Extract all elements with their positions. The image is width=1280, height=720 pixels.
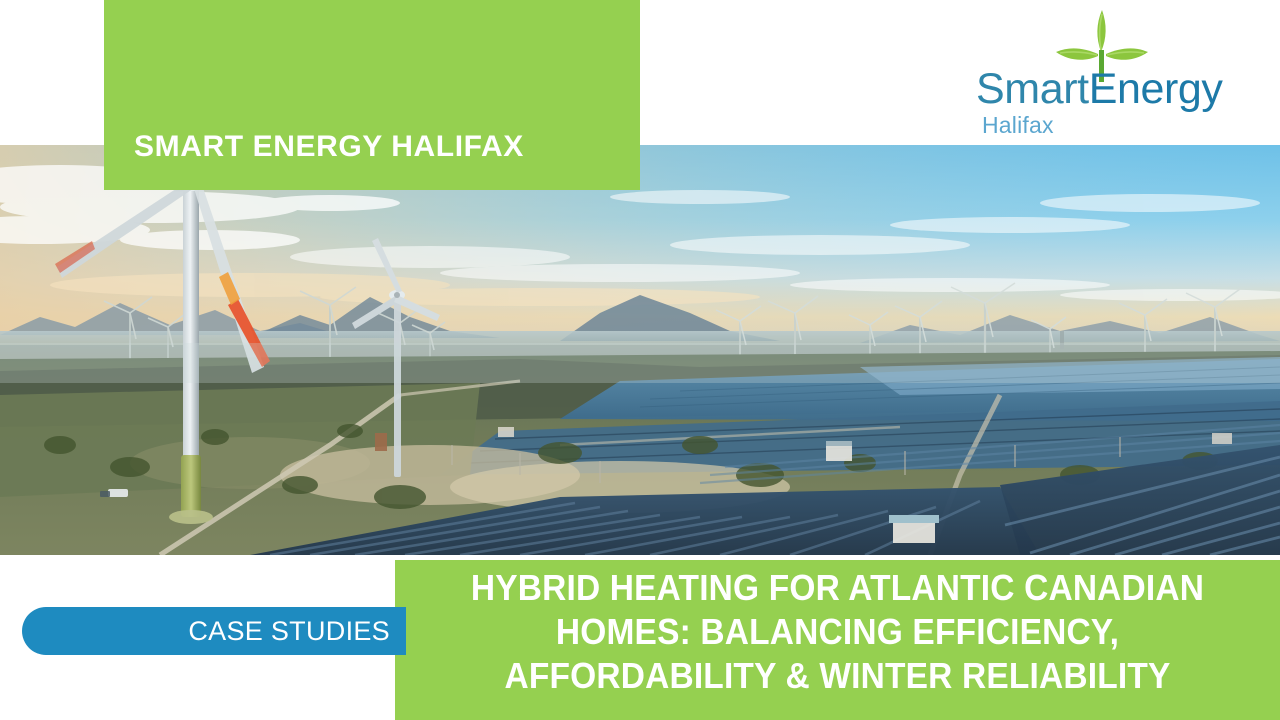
brand-logo[interactable]: SmartEnergy Halifax: [976, 8, 1244, 140]
presentation-title: HYBRID HEATING FOR ATLANTIC CANADIAN HOM…: [437, 566, 1238, 698]
logo-subtitle: Halifax: [982, 112, 1054, 138]
header-banner-title: SMART ENERGY HALIFAX: [134, 132, 524, 162]
category-badge: CASE STUDIES: [22, 607, 406, 655]
category-badge-label: CASE STUDIES: [188, 616, 390, 647]
logo-word-energy: Energy: [1089, 65, 1223, 113]
logo-word-smart: Smart: [976, 65, 1089, 113]
slide-canvas: SMART ENERGY HALIFAX SmartEnergy Halif: [0, 0, 1280, 720]
hero-photo-artwork: [0, 145, 1280, 555]
title-line-1: HYBRID HEATING FOR ATLANTIC CANADIAN: [437, 566, 1238, 610]
title-block: HYBRID HEATING FOR ATLANTIC CANADIAN HOM…: [395, 560, 1280, 720]
logo-wordmark: SmartEnergy: [976, 66, 1244, 112]
title-line-2: HOMES: BALANCING EFFICIENCY,: [437, 610, 1238, 654]
hero-photo: [0, 145, 1280, 555]
title-line-3: AFFORDABILITY & WINTER RELIABILITY: [437, 654, 1238, 698]
header-banner: SMART ENERGY HALIFAX: [104, 0, 640, 190]
